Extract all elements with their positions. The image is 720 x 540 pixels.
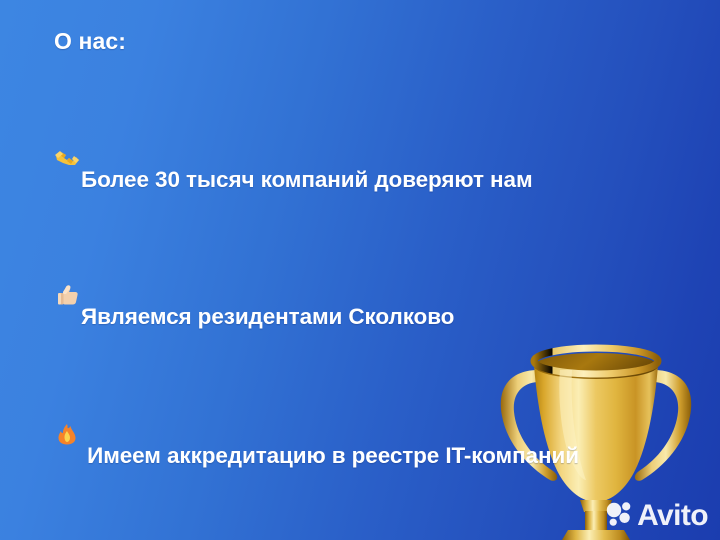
avito-dots-logo <box>605 500 632 532</box>
list-item: Имеем аккредитацию в реестре IT-компаний <box>54 362 674 470</box>
list-item: Получили звание Сервиса №1 по работе с “… <box>54 502 674 540</box>
page-title: О нас: <box>54 28 674 56</box>
avito-watermark: Avito <box>605 500 708 532</box>
trophy-emoji <box>54 532 80 540</box>
fire-emoji <box>54 393 80 415</box>
about-us-block: О нас: Более 30 тысяч компаний доверяют … <box>54 28 674 540</box>
list-item: Более 30 тысяч компаний доверяют нам <box>54 87 674 195</box>
list-item-label: Более 30 тысяч компаний доверяют нам <box>81 167 533 192</box>
list-item-label: Имеем аккредитацию в реестре IT-компаний <box>81 443 579 468</box>
list-item-label: Являемся резидентами Сколково <box>81 304 454 329</box>
handshake-emoji <box>54 117 80 139</box>
promo-image: О нас: Более 30 тысяч компаний доверяют … <box>0 0 720 540</box>
avito-wordmark: Avito <box>637 501 708 531</box>
list-item: Являемся резидентами Сколково <box>54 224 674 332</box>
thumbs-up-emoji <box>54 254 80 276</box>
